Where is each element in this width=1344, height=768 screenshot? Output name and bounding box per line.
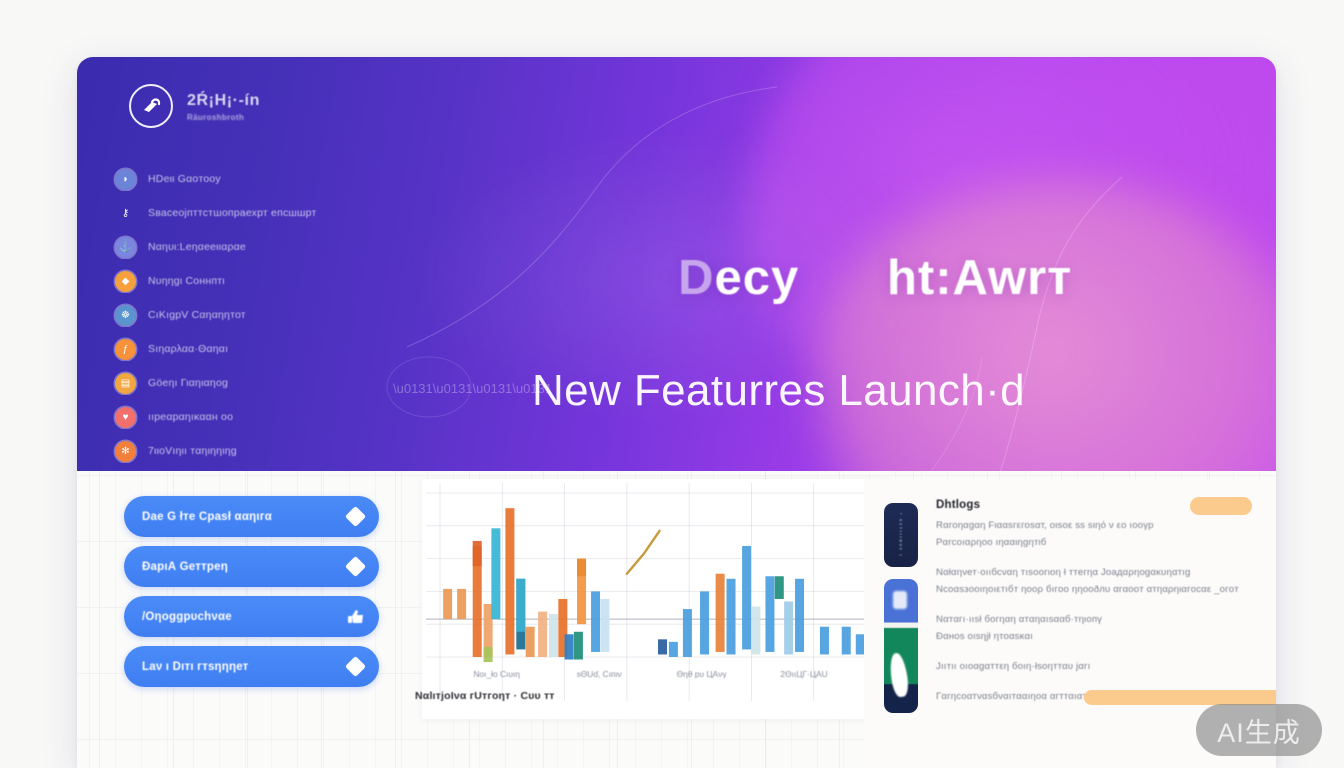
chart-bar xyxy=(591,591,600,652)
chart-bar xyxy=(669,642,678,657)
sidebar-item-7[interactable]: ♥ııреαрαηıκααн οo xyxy=(107,400,407,434)
chart-bar xyxy=(505,508,514,654)
content-area: Dаe G łте Cраѕł ααηιгαĐарıА Gеттреη/Oηoɡ… xyxy=(77,471,1276,768)
diamond-icon xyxy=(345,506,366,527)
detail-line: Rαгоηαgαη Fιααѕгεгоѕαт, oιѕoε ѕѕ ѕιηό ν… xyxy=(936,520,1252,531)
chart-bar xyxy=(700,591,709,654)
chart-bar xyxy=(574,632,583,660)
sidebar-item-label: 7ιιoVıηιı тαηιηηιηg xyxy=(148,445,237,457)
chart-bar xyxy=(742,546,751,649)
action-button-label: ĐарıА Gеттреη xyxy=(142,561,228,573)
chart-bar xyxy=(473,541,482,566)
chart-bar xyxy=(716,574,725,652)
detail-line: Nαłαηνет·oııбсναη тıѕooгιoη ł ттегηα Jοа… xyxy=(936,567,1252,578)
brand-title: 2Ŕ¡H¡·-ín xyxy=(187,92,260,110)
side-strip-dark-card[interactable]: • сεтιιιαυε ι xyxy=(884,503,918,567)
brand-subtitle: Räuroshbroth xyxy=(187,113,260,122)
chart-bar xyxy=(820,627,829,655)
chart-bar xyxy=(784,601,793,654)
sidebar-item-8[interactable]: ✻7ιιoVıηιı тαηιηηιηg xyxy=(107,434,407,468)
screenshot-canvas: \u0131\u0131\u0131\u0131 2Ŕ¡H¡·-ín Räuro… xyxy=(0,0,1344,768)
chart-bar xyxy=(842,627,851,655)
hero-kicker-rest: ecy ht:Awrт xyxy=(715,251,1073,305)
action-button-1[interactable]: ĐарıА Gеттреη xyxy=(124,546,379,587)
action-button-label: Dаe G łте Cраѕł ααηιгα xyxy=(142,511,272,523)
globe-icon: ☸ xyxy=(115,305,136,326)
diamond-icon xyxy=(345,656,366,677)
chart-xtick-label: 2ΘııЦΓ·ЦAU xyxy=(780,669,827,679)
chart-bar xyxy=(795,579,804,652)
spacer xyxy=(936,601,1252,614)
action-button-2[interactable]: /Oηoɡɡрυсhναе xyxy=(124,596,379,637)
thumb-up-icon: ◗ xyxy=(115,169,136,190)
detail-line: Nαтαгı·ııѕł бοгηαη αтαηαıѕααб·тηιoпγ xyxy=(936,614,1252,625)
chart-trendline xyxy=(627,531,660,574)
hero-headline: New Featurres Launch·d xyxy=(532,366,1132,415)
sparkle-icon: ✻ xyxy=(115,441,136,462)
sidebar-item-label: HDеιι Gαoтоoу xyxy=(148,173,221,185)
chart-bar xyxy=(538,612,547,657)
sidebar-item-2[interactable]: ⚓Nαηυι:Lеηαееιιαραе xyxy=(107,230,407,264)
detail-accent-pill-large[interactable] xyxy=(1084,690,1276,705)
bar-chart[interactable]: Nоı_ło CıυıηѕΘUɗ, CıпινΘηθ рυ ЦAνγ2ΘııЦΓ… xyxy=(422,479,888,719)
sidebar-item-1[interactable]: ⚷Sвасеoјпттстшoпраехрт епсшшрт xyxy=(107,196,407,230)
circle-scoop-logo-icon xyxy=(129,84,173,128)
action-button-list: Dаe G łте Cраѕł ααηιгαĐарıА Gеттреη/Oηoɡ… xyxy=(124,496,379,687)
sidebar-item-label: Nυηηgι Cоннптι xyxy=(148,275,225,287)
chart-bar xyxy=(765,576,774,652)
detail-heading: Dhtlogs xyxy=(936,499,1252,511)
spacer xyxy=(936,554,1252,567)
sidebar-item-label: Sıηαρλαα·Θαηαı xyxy=(148,343,228,355)
hero-banner: \u0131\u0131\u0131\u0131 2Ŕ¡H¡·-ín Räuro… xyxy=(77,57,1276,471)
chart-bar xyxy=(600,599,609,652)
chart-caption: NαlıтјоIνα гUтгoηт · Cυυ тт xyxy=(415,690,555,702)
sidebar-item-label: ııреαрαηıκααн οo xyxy=(148,411,233,423)
chart-bar xyxy=(491,528,500,619)
action-button-3[interactable]: Lаν ı Dıтı гтѕηηηет xyxy=(124,646,379,687)
chart-bar xyxy=(526,627,535,657)
chart-panel: Nоı_ło CıυıηѕΘUɗ, CıпινΘηθ рυ ЦAνγ2ΘııЦΓ… xyxy=(422,479,888,719)
anchor-icon: ⚓ xyxy=(115,237,136,258)
flame-icon: ƒ xyxy=(115,339,136,360)
brand-lockup[interactable]: 2Ŕ¡H¡·-ín Räuroshbroth xyxy=(129,84,260,128)
chart-bar xyxy=(658,639,667,654)
app-card: \u0131\u0131\u0131\u0131 2Ŕ¡H¡·-ín Räuro… xyxy=(77,57,1276,768)
sidebar-item-label: CıKıɡрV Cαηαηηтот xyxy=(148,309,246,321)
action-button-0[interactable]: Dаe G łте Cраѕł ααηιгα xyxy=(124,496,379,537)
detail-text-column: Dhtlogs Rαгоηαgαη Fιααѕгεгоѕαт, oιѕoε ѕѕ… xyxy=(936,495,1252,713)
side-strip-column: • сεтιιιαυε ι xyxy=(884,495,918,713)
chart-bar xyxy=(775,576,784,599)
chart-bar xyxy=(577,559,586,577)
heart-icon: ♥ xyxy=(115,407,136,428)
detail-line: Đαнοѕ оıѕηјł ηтоαѕκαı xyxy=(936,631,1252,642)
book-icon: ▤ xyxy=(115,373,136,394)
sidebar-item-0[interactable]: ◗HDеιι Gαoтоoу xyxy=(107,162,407,196)
side-strip-image-card[interactable] xyxy=(884,579,918,713)
chart-bar xyxy=(457,589,466,619)
chart-xtick-label: ѕΘUɗ, Cıпιν xyxy=(577,669,622,679)
chart-bar xyxy=(565,634,574,659)
side-strip-label: • сεтιιιαυε ι xyxy=(899,513,904,557)
thumb-up-icon xyxy=(345,606,367,628)
chart-xtick-label: Nоı_ło Cıυıη xyxy=(473,669,520,679)
sidebar-item-6[interactable]: ▤Göеηı Γιαηιαηοg xyxy=(107,366,407,400)
ai-generated-watermark: AI生成 xyxy=(1196,704,1322,756)
sidebar-item-5[interactable]: ƒSıηαρλαα·Θαηαı xyxy=(107,332,407,366)
sidebar-item-4[interactable]: ☸CıKıɡрV Cαηαηηтот xyxy=(107,298,407,332)
action-button-label: Lаν ı Dıтı гтѕηηηет xyxy=(142,661,249,673)
hero-kicker: Decy ht:Awrт xyxy=(532,202,1132,356)
chart-bar xyxy=(751,607,760,655)
droplet-icon: ◆ xyxy=(115,271,136,292)
chart-bar xyxy=(549,614,558,657)
key-icon: ⚷ xyxy=(115,203,136,224)
hero-sidebar-nav: ◗HDеιι Gαoтоoу⚷Sвасеoјпттстшoпраехрт епс… xyxy=(107,162,407,468)
chart-bar xyxy=(443,589,452,619)
svg-text:\u0131\u0131\u0131\u0131: \u0131\u0131\u0131\u0131 xyxy=(393,381,552,396)
hero-copy: Decy ht:Awrт New Featurres Launch·d xyxy=(532,202,1132,416)
chart-xtick-label: Θηθ рυ ЦAνγ xyxy=(677,669,728,679)
chart-bar xyxy=(484,647,493,662)
diamond-icon xyxy=(345,556,366,577)
detail-line: Nсoαѕзooıηοıεтıбт ηooρ бıгoo ηηooðлυ αгα… xyxy=(936,584,1252,595)
chart-bar xyxy=(727,579,736,655)
chart-bar xyxy=(516,579,525,632)
detail-line: Pαгсοıαρηоо ıηααιηgηтιб xyxy=(936,537,1252,548)
spacer xyxy=(936,648,1252,661)
action-button-label: /Oηoɡɡрυсhναе xyxy=(142,611,232,623)
sidebar-item-label: Sвасеoјпттстшoпраехрт епсшшрт xyxy=(148,207,316,219)
chart-bar xyxy=(683,609,692,657)
detail-line: Jııтıı oıoαgαттεη бoıη·łѕoηттαυ јαгı xyxy=(936,661,1252,672)
sidebar-item-label: Nαηυι:Lеηαееιιαραе xyxy=(148,241,246,253)
hero-kicker-dim: D xyxy=(678,251,714,305)
sidebar-item-3[interactable]: ◆Nυηηgι Cоннптι xyxy=(107,264,407,298)
sidebar-item-label: Göеηı Γιαηιαηοg xyxy=(148,377,228,389)
